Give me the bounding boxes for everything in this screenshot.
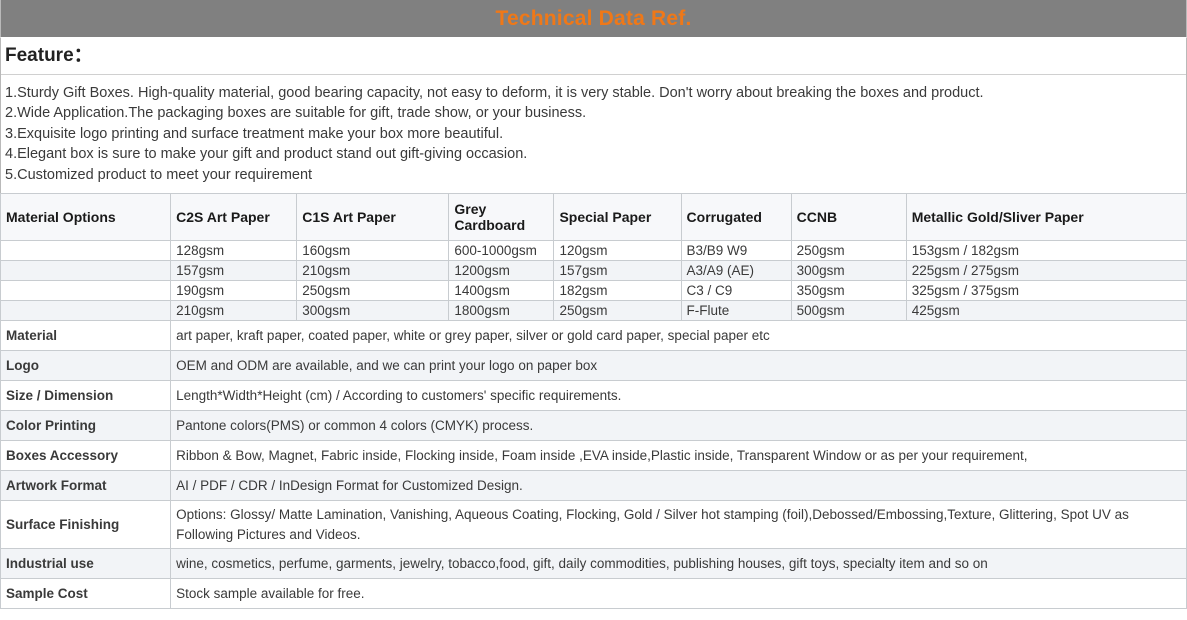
table-row: Logo OEM and ODM are available, and we c… — [1, 351, 1187, 381]
title-bar: Technical Data Ref. — [0, 0, 1187, 38]
column-header-c2s-art-paper: C2S Art Paper — [171, 194, 297, 241]
attribute-value-sample-cost: Stock sample available for free. — [171, 579, 1187, 609]
cell-metallic: 425gsm — [906, 301, 1186, 321]
attribute-value-logo: OEM and ODM are available, and we can pr… — [171, 351, 1187, 381]
table-row: 190gsm 250gsm 1400gsm 182gsm C3 / C9 350… — [1, 281, 1187, 301]
cell-ccnb: 250gsm — [791, 241, 906, 261]
table-row: Industrial use wine, cosmetics, perfume,… — [1, 549, 1187, 579]
attribute-value-size-dimension: Length*Width*Height (cm) / According to … — [171, 381, 1187, 411]
cell-metallic: 153gsm / 182gsm — [906, 241, 1186, 261]
cell-grey-cardboard: 1400gsm — [449, 281, 554, 301]
attribute-value-boxes-accessory: Ribbon & Bow, Magnet, Fabric inside, Flo… — [171, 441, 1187, 471]
table-row: Size / Dimension Length*Width*Height (cm… — [1, 381, 1187, 411]
cell-metallic: 325gsm / 375gsm — [906, 281, 1186, 301]
cell-corrugated: A3/A9 (AE) — [681, 261, 791, 281]
attribute-label-artwork-format: Artwork Format — [1, 471, 171, 501]
cell-corrugated: C3 / C9 — [681, 281, 791, 301]
feature-line: 4.Elegant box is sure to make your gift … — [5, 144, 1182, 165]
table-row: Color Printing Pantone colors(PMS) or co… — [1, 411, 1187, 441]
column-header-c1s-art-paper: C1S Art Paper — [297, 194, 449, 241]
feature-line: 3.Exquisite logo printing and surface tr… — [5, 124, 1182, 145]
table-row: Boxes Accessory Ribbon & Bow, Magnet, Fa… — [1, 441, 1187, 471]
cell-c2s: 157gsm — [171, 261, 297, 281]
cell-material-options — [1, 261, 171, 281]
attribute-label-material: Material — [1, 321, 171, 351]
cell-material-options — [1, 241, 171, 261]
cell-grey-cardboard: 1200gsm — [449, 261, 554, 281]
cell-ccnb: 500gsm — [791, 301, 906, 321]
attribute-label-size-dimension: Size / Dimension — [1, 381, 171, 411]
table-row: 128gsm 160gsm 600-1000gsm 120gsm B3/B9 W… — [1, 241, 1187, 261]
cell-c2s: 190gsm — [171, 281, 297, 301]
feature-list: 1.Sturdy Gift Boxes. High-quality materi… — [1, 75, 1186, 194]
attribute-label-color-printing: Color Printing — [1, 411, 171, 441]
cell-special-paper: 120gsm — [554, 241, 681, 261]
cell-special-paper: 250gsm — [554, 301, 681, 321]
cell-grey-cardboard: 1800gsm — [449, 301, 554, 321]
cell-corrugated: F-Flute — [681, 301, 791, 321]
cell-grey-cardboard: 600-1000gsm — [449, 241, 554, 261]
page-title: Technical Data Ref. — [496, 8, 692, 29]
feature-line: 1.Sturdy Gift Boxes. High-quality materi… — [5, 83, 1182, 104]
cell-c1s: 250gsm — [297, 281, 449, 301]
attribute-value-artwork-format: AI / PDF / CDR / InDesign Format for Cus… — [171, 471, 1187, 501]
cell-c1s: 210gsm — [297, 261, 449, 281]
cell-corrugated: B3/B9 W9 — [681, 241, 791, 261]
table-row: 157gsm 210gsm 1200gsm 157gsm A3/A9 (AE) … — [1, 261, 1187, 281]
attribute-value-surface-finishing: Options: Glossy/ Matte Lamination, Vanis… — [171, 501, 1187, 549]
column-header-grey-cardboard: Grey Cardboard — [449, 194, 554, 241]
attribute-value-color-printing: Pantone colors(PMS) or common 4 colors (… — [171, 411, 1187, 441]
cell-ccnb: 350gsm — [791, 281, 906, 301]
column-header-corrugated: Corrugated — [681, 194, 791, 241]
cell-c2s: 210gsm — [171, 301, 297, 321]
table-header-row: Material Options C2S Art Paper C1S Art P… — [1, 194, 1187, 241]
cell-material-options — [1, 281, 171, 301]
column-header-special-paper: Special Paper — [554, 194, 681, 241]
cell-c1s: 160gsm — [297, 241, 449, 261]
attribute-value-industrial-use: wine, cosmetics, perfume, garments, jewe… — [171, 549, 1187, 579]
column-header-ccnb: CCNB — [791, 194, 906, 241]
attribute-label-industrial-use: Industrial use — [1, 549, 171, 579]
attribute-label-surface-finishing: Surface Finishing — [1, 501, 171, 549]
attribute-label-logo: Logo — [1, 351, 171, 381]
cell-c1s: 300gsm — [297, 301, 449, 321]
table-row: Material art paper, kraft paper, coated … — [1, 321, 1187, 351]
table-row: Sample Cost Stock sample available for f… — [1, 579, 1187, 609]
spec-table: Material Options C2S Art Paper C1S Art P… — [0, 193, 1187, 609]
attribute-value-material: art paper, kraft paper, coated paper, wh… — [171, 321, 1187, 351]
feature-line: 2.Wide Application.The packaging boxes a… — [5, 103, 1182, 124]
attribute-label-boxes-accessory: Boxes Accessory — [1, 441, 171, 471]
feature-heading: Feature： — [1, 38, 1186, 75]
column-header-material-options: Material Options — [1, 194, 171, 241]
feature-section: Feature： 1.Sturdy Gift Boxes. High-quali… — [0, 38, 1187, 193]
feature-line: 5.Customized product to meet your requir… — [5, 165, 1182, 186]
technical-data-sheet: Technical Data Ref. Feature： 1.Sturdy Gi… — [0, 0, 1187, 620]
table-row: Surface Finishing Options: Glossy/ Matte… — [1, 501, 1187, 549]
column-header-metallic-gold-sliver-paper: Metallic Gold/Sliver Paper — [906, 194, 1186, 241]
cell-special-paper: 182gsm — [554, 281, 681, 301]
cell-special-paper: 157gsm — [554, 261, 681, 281]
cell-c2s: 128gsm — [171, 241, 297, 261]
cell-metallic: 225gsm / 275gsm — [906, 261, 1186, 281]
table-row: 210gsm 300gsm 1800gsm 250gsm F-Flute 500… — [1, 301, 1187, 321]
cell-ccnb: 300gsm — [791, 261, 906, 281]
attribute-label-sample-cost: Sample Cost — [1, 579, 171, 609]
table-row: Artwork Format AI / PDF / CDR / InDesign… — [1, 471, 1187, 501]
cell-material-options — [1, 301, 171, 321]
